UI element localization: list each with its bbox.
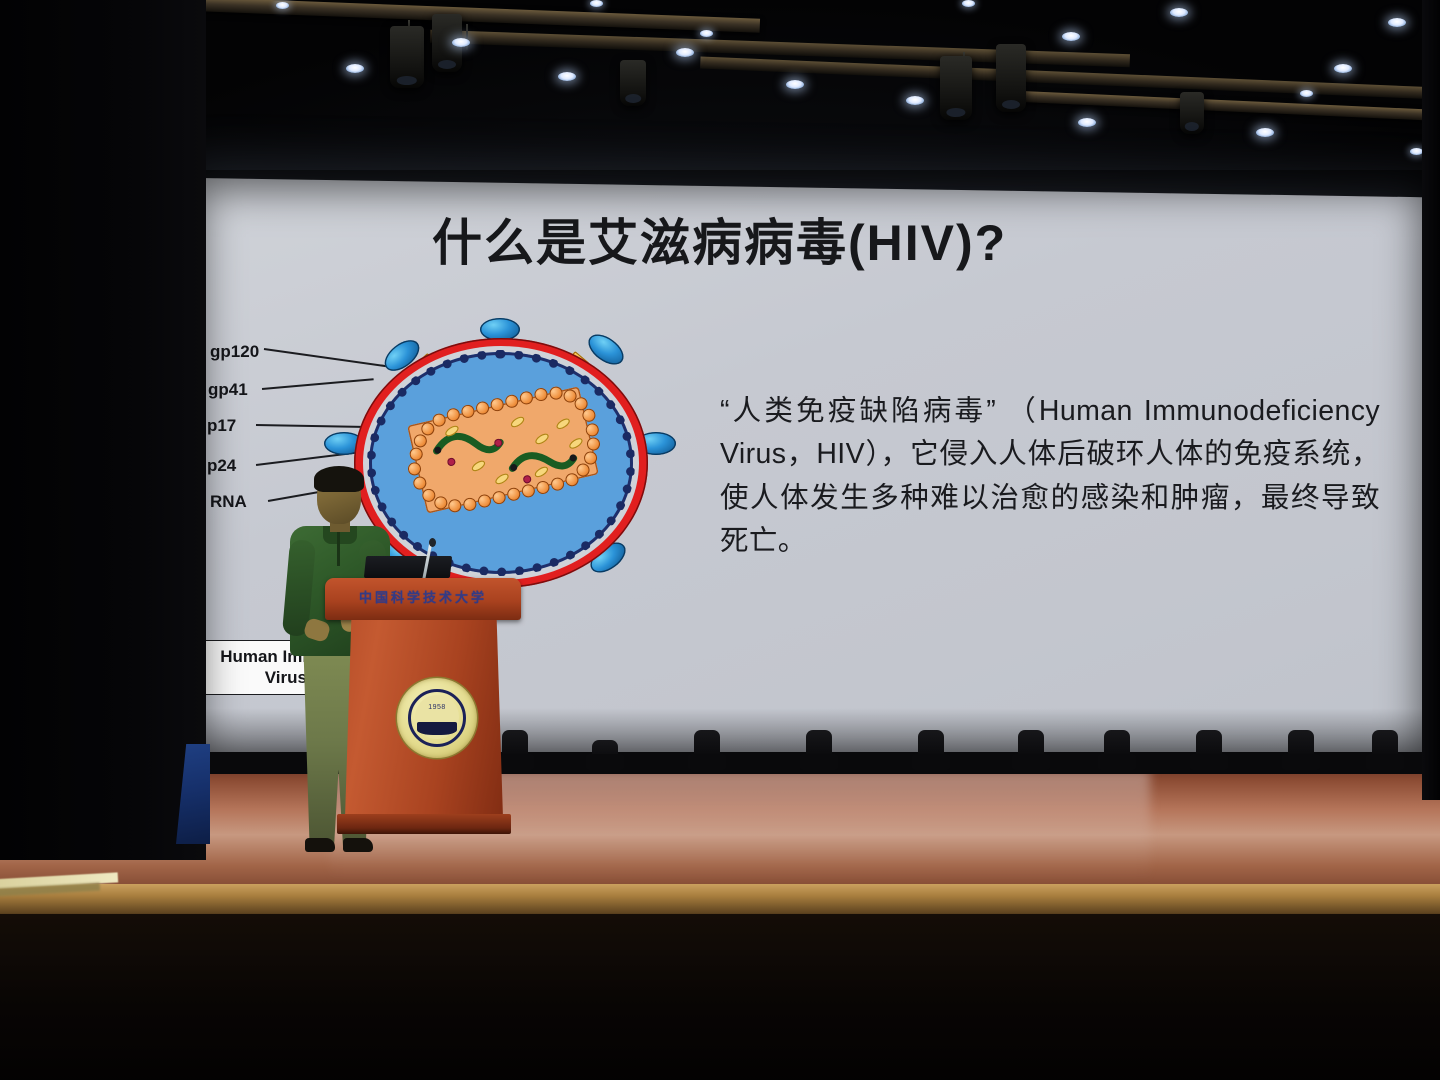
ceiling-light: [1078, 118, 1096, 127]
footlight: [1196, 730, 1222, 770]
footlight: [1372, 730, 1398, 770]
laptop-on-podium: [364, 556, 452, 578]
ceiling-light: [1388, 18, 1406, 27]
slide-body-text: “人类免疫缺陷病毒” （Human Immunodeficiency Virus…: [720, 390, 1380, 563]
ceiling-light: [1256, 128, 1274, 137]
ceiling-light: [700, 30, 713, 37]
ceiling-light: [1170, 8, 1188, 17]
slide-title: 什么是艾滋病病毒(HIV)?: [432, 218, 1007, 268]
ceiling-light: [346, 64, 364, 73]
ceiling-light: [1300, 90, 1313, 97]
footlight: [694, 730, 720, 770]
ceiling-light: [276, 2, 289, 9]
university-emblem: 1958: [397, 678, 477, 758]
footlight: [806, 730, 832, 770]
emblem-year: 1958: [397, 704, 477, 711]
footlight: [1288, 730, 1314, 770]
podium-base: [337, 814, 511, 834]
stage-light-fixture: [1180, 92, 1204, 134]
footlight: [592, 740, 618, 770]
stage-curtain-right: [1422, 0, 1440, 800]
ceiling-light: [1062, 32, 1080, 41]
ceiling-light: [962, 0, 975, 7]
podium-engraved-text: 中国科学技术大学: [325, 587, 521, 606]
ceiling-light: [558, 72, 576, 81]
ceiling-light: [906, 96, 924, 105]
diagram-label-rna: RNA: [210, 492, 247, 512]
diagram-label-gp41: env gp41: [200, 380, 248, 400]
lectern-podium: 中国科学技术大学 1958: [333, 578, 513, 840]
ceiling-light: [590, 0, 603, 7]
emblem-book-icon: [417, 722, 457, 735]
ceiling-light: [1334, 64, 1352, 73]
footlight: [1018, 730, 1044, 770]
diagram-label-gp120: env gp120: [200, 342, 259, 362]
ceiling-light: [786, 80, 804, 89]
podium-front-panel: 1958: [345, 620, 503, 818]
stage-light-fixture: [996, 44, 1026, 112]
stage-front-face: [0, 914, 1440, 1080]
auditorium-scene: 什么是艾滋病病毒(HIV)? “人类免疫缺陷病毒” （Human Immunod…: [0, 0, 1440, 1080]
ceiling-light: [676, 48, 694, 57]
podium-top-panel: 中国科学技术大学: [325, 578, 521, 620]
stage-edge-lip: [0, 884, 1440, 918]
stage-light-fixture: [940, 56, 972, 120]
stage-light-fixture: [390, 26, 424, 88]
footlight: [918, 730, 944, 770]
presenter-placket: [337, 532, 340, 566]
presenter-shoe: [343, 838, 373, 852]
microphone-head: [429, 538, 436, 547]
ceiling-light: [452, 38, 470, 47]
presenter-hair: [314, 466, 364, 492]
stage-curtain-left: [0, 0, 206, 860]
presenter-shoe: [305, 838, 335, 852]
footlight: [1104, 730, 1130, 770]
stage-light-fixture: [620, 60, 646, 106]
